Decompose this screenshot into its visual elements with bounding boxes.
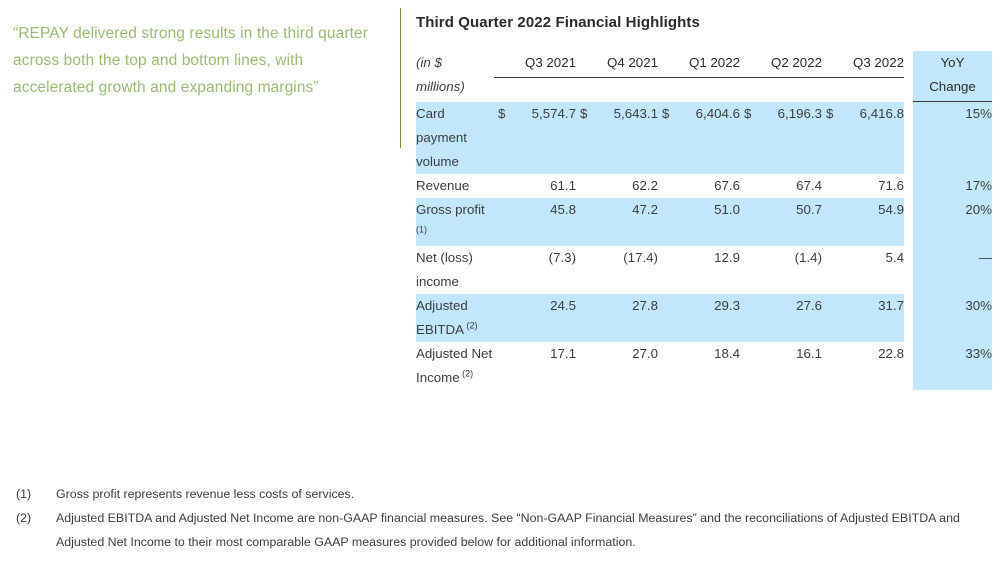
table-cell-value: 27.8 [576,294,658,342]
table-header-row: (in $ millions) Q3 2021 Q4 2021 Q1 2022 … [416,51,992,102]
footnote-marker: (2) [464,321,478,331]
column-header-q2-2022: Q2 2022 [740,51,822,102]
column-header-q1-2022: Q1 2022 [658,51,740,102]
yoy-header-line1: YoY [913,51,992,75]
currency-symbol: $ [740,102,751,126]
row-label: Gross profit (1) [416,198,494,246]
column-header-yoy-change: YoY Change [913,51,992,102]
footnote-row: (2)Adjusted EBITDA and Adjusted Net Inco… [16,506,976,554]
units-label-line1: (in $ [416,55,442,70]
table-row: Adjusted EBITDA (2)24.527.829.327.631.73… [416,294,992,342]
row-label: Revenue [416,174,494,198]
column-header-q3-2022: Q3 2022 [822,51,904,102]
table-cell-value: 17.1 [494,342,576,390]
table-row: Revenue61.162.267.667.471.617% [416,174,992,198]
table-cell-value: 18.4 [658,342,740,390]
table-cell-value: $5,574.7 [494,102,576,174]
table-cell-value: (17.4) [576,246,658,294]
yoy-change-value: 17% [913,174,992,198]
vertical-divider [400,8,401,148]
table-cell-value: 50.7 [740,198,822,246]
table-cell-value: 45.8 [494,198,576,246]
table-row: Card payment volume$5,574.7$5,643.1$6,40… [416,102,992,174]
table-cell-value: 31.7 [822,294,904,342]
table-cell-value: 71.6 [822,174,904,198]
currency-symbol: $ [494,102,505,126]
table-cell-value: 22.8 [822,342,904,390]
yoy-change-value: 15% [913,102,992,174]
table-cell-value: 67.6 [658,174,740,198]
table-cell-value: 51.0 [658,198,740,246]
executive-quote-text: “REPAY delivered strong results in the t… [13,20,378,101]
table-header: (in $ millions) Q3 2021 Q4 2021 Q1 2022 … [416,51,992,102]
footnote-marker: (1) [416,225,427,235]
table-cell-value: 27.6 [740,294,822,342]
table-cell-value: 16.1 [740,342,822,390]
page-title: Third Quarter 2022 Financial Highlights [416,14,982,31]
financial-highlights-table: (in $ millions) Q3 2021 Q4 2021 Q1 2022 … [416,51,992,390]
row-label: Adjusted Net Income (2) [416,342,494,390]
currency-symbol: $ [658,102,669,126]
yoy-change-value: 30% [913,294,992,342]
column-gap [904,246,913,294]
footnote-number: (1) [16,482,56,506]
table-cell-value: 61.1 [494,174,576,198]
row-label: Net (loss) income [416,246,494,294]
table-cell-value: 5.4 [822,246,904,294]
table-row: Adjusted Net Income (2)17.127.018.416.12… [416,342,992,390]
column-gap [904,294,913,342]
table-cell-value: (1.4) [740,246,822,294]
table-cell-value: (7.3) [494,246,576,294]
table-cell-value: 67.4 [740,174,822,198]
header-gap [904,51,913,102]
footnote-text: Gross profit represents revenue less cos… [56,482,976,506]
units-label: (in $ millions) [416,51,494,102]
table-cell-value: $6,404.6 [658,102,740,174]
footnote-row: (1)Gross profit represents revenue less … [16,482,976,506]
column-gap [904,102,913,174]
table-cell-value: $6,416.8 [822,102,904,174]
currency-symbol: $ [822,102,833,126]
table-cell-value: 29.3 [658,294,740,342]
financial-highlights-section: Third Quarter 2022 Financial Highlights … [416,14,982,390]
quote-panel: “REPAY delivered strong results in the t… [0,0,392,150]
table-cell-value: 62.2 [576,174,658,198]
currency-symbol: $ [576,102,587,126]
table-cell-value: 27.0 [576,342,658,390]
column-gap [904,198,913,246]
table-body: Card payment volume$5,574.7$5,643.1$6,40… [416,102,992,390]
row-label: Card payment volume [416,102,494,174]
table-cell-value: $6,196.3 [740,102,822,174]
footnote-number: (2) [16,506,56,530]
table-cell-value: $5,643.1 [576,102,658,174]
yoy-change-value: 33% [913,342,992,390]
table-cell-value: 47.2 [576,198,658,246]
table-row: Net (loss) income(7.3)(17.4)12.9(1.4)5.4… [416,246,992,294]
row-label: Adjusted EBITDA (2) [416,294,494,342]
yoy-change-value: 20% [913,198,992,246]
footnote-marker: (2) [460,369,474,379]
table-row: Gross profit (1)45.847.251.050.754.920% [416,198,992,246]
yoy-header-line2: Change [913,75,992,102]
yoy-change-value: — [913,246,992,294]
footnotes: (1)Gross profit represents revenue less … [16,482,976,554]
units-label-line2: millions) [416,79,465,94]
table-cell-value: 24.5 [494,294,576,342]
table-cell-value: 54.9 [822,198,904,246]
column-header-q4-2021: Q4 2021 [576,51,658,102]
footnote-text: Adjusted EBITDA and Adjusted Net Income … [56,506,976,554]
column-gap [904,174,913,198]
column-header-q3-2021: Q3 2021 [494,51,576,102]
table-cell-value: 12.9 [658,246,740,294]
column-gap [904,342,913,390]
